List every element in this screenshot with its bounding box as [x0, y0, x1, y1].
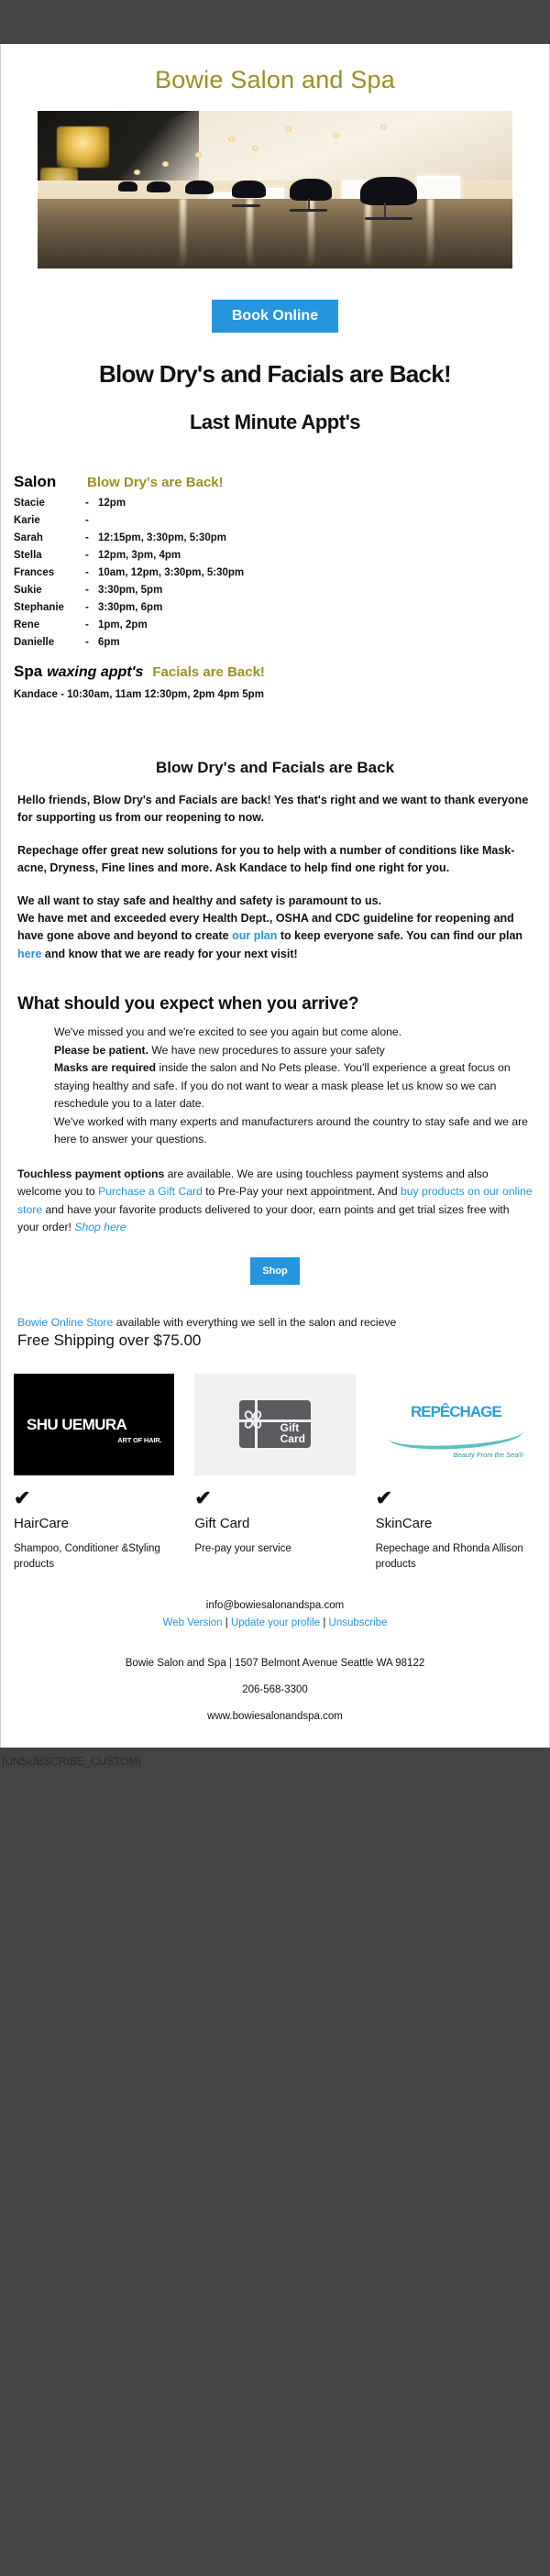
expect-l4-text: We've worked with many experts and manuf…	[54, 1115, 528, 1146]
table-row: Stella - 12pm, 3pm, 4pm	[1, 543, 549, 561]
please-be-patient-bold: Please be patient.	[54, 1044, 148, 1057]
link-separator: |	[320, 1617, 328, 1628]
schedule-section-label: Salon	[14, 473, 87, 491]
touchless-b: to Pre-Pay your next appointment. And	[203, 1185, 401, 1198]
floor-reflection	[427, 199, 434, 269]
row-dash: -	[85, 585, 98, 596]
spa-sublabel: waxing appt's	[47, 664, 143, 681]
salon-chair	[360, 177, 417, 205]
salon-chair	[185, 181, 214, 194]
stylist-times: 3:30pm, 6pm	[98, 602, 549, 613]
link-separator: |	[223, 1617, 231, 1628]
expect-title: What should you expect when you arrive?	[17, 994, 533, 1014]
shop-button-row: Shop	[1, 1237, 549, 1285]
check-icon: ✔	[194, 1475, 355, 1508]
stylist-times: 12pm	[98, 498, 549, 509]
expect-indent-block: We've missed you and we're excited to se…	[17, 1024, 533, 1149]
repechage-tagline: Beauty From the Sea®	[454, 1451, 523, 1459]
table-row: Kandace - 10:30am, 11am 12:30pm, 2pm 4pm…	[1, 681, 549, 700]
row-dash: -	[85, 515, 98, 526]
gift-bow-icon	[245, 1410, 265, 1429]
expect-section: What should you expect when you arrive? …	[1, 963, 549, 1237]
footer-email: info@bowiesalonandspa.com	[17, 1600, 533, 1611]
shu-uemura-tagline: ART OF HAIR.	[117, 1436, 161, 1444]
table-row: Sarah - 12:15pm, 3:30pm, 5:30pm	[1, 526, 549, 543]
stylist-name: Danielle	[14, 637, 85, 648]
stylist-times: 10am, 12pm, 3:30pm, 5:30pm	[98, 567, 549, 578]
shop-here-link[interactable]: Shop here	[74, 1221, 126, 1233]
spa-label: Spa	[14, 663, 42, 681]
touchless-payment-paragraph: Touchless payment options are available.…	[17, 1166, 533, 1237]
footer-links: Web Version | Update your profile | Unsu…	[17, 1617, 533, 1628]
ceiling-light-icon	[133, 170, 141, 175]
product-description: Repechage and Rhonda Allison products	[376, 1541, 536, 1573]
row-dash: -	[85, 498, 98, 509]
headline-primary: Blow Dry's and Facials are Back!	[1, 333, 549, 389]
floor-reflection	[180, 199, 186, 269]
gift-card-icon: Gift Card	[194, 1374, 355, 1475]
floor-reflection	[247, 199, 253, 269]
store-line-rest: available with everything we sell in the…	[113, 1316, 396, 1329]
article-paragraph-1: Hello friends, Blow Dry's and Facials ar…	[17, 792, 533, 828]
stylist-name: Stacie	[14, 498, 85, 509]
stylist-name: Karie	[14, 515, 85, 526]
row-dash: -	[85, 550, 98, 561]
stylist-times	[98, 515, 549, 526]
stylist-name: Frances	[14, 567, 85, 578]
row-dash: -	[85, 637, 98, 648]
product-description: Pre-pay your service	[194, 1541, 355, 1557]
spa-note: Facials are Back!	[152, 664, 265, 680]
stylist-name: Rene	[14, 619, 85, 630]
product-column-haircare: SHU UEMURA ART OF HAIR. ✔ HairCare Shamp…	[14, 1374, 174, 1573]
stylist-times: 6pm	[98, 637, 549, 648]
repechage-wave-icon	[388, 1429, 523, 1452]
table-row: Rene - 1pm, 2pm	[1, 613, 549, 630]
chandelier-icon	[57, 126, 109, 168]
product-columns: SHU UEMURA ART OF HAIR. ✔ HairCare Shamp…	[1, 1350, 549, 1573]
shu-uemura-logo: SHU UEMURA ART OF HAIR.	[14, 1374, 174, 1475]
stylist-name: Stella	[14, 550, 85, 561]
table-row: Frances - 10am, 12pm, 3:30pm, 5:30pm	[1, 561, 549, 578]
expect-line-1: We've missed you and we're excited to se…	[54, 1024, 533, 1149]
card-word: Card	[280, 1433, 305, 1444]
top-dark-bar	[0, 0, 550, 44]
salon-chair	[384, 203, 386, 218]
row-dash: -	[85, 532, 98, 543]
schedule-section-note: Blow Dry's are Back!	[87, 475, 224, 490]
hero-image-wrap	[1, 111, 549, 269]
stylist-times: 1pm, 2pm	[98, 619, 549, 630]
row-dash: -	[85, 619, 98, 630]
check-icon: ✔	[376, 1475, 536, 1508]
article-p3-line1: We all want to stay safe and healthy and…	[17, 894, 381, 907]
unsubscribe-link[interactable]: Unsubscribe	[329, 1617, 388, 1628]
article-p3-line4: and know that we are ready for your next…	[41, 948, 297, 960]
salon-chair	[290, 179, 333, 201]
spa-header: Spa waxing appt's Facials are Back!	[1, 648, 549, 681]
ceiling-light-icon	[251, 146, 259, 151]
unsubscribe-custom-token: [UNSUBSCRIBE_CUSTOM]	[0, 1748, 550, 1768]
masks-required-bold: Masks are required	[54, 1061, 156, 1074]
purchase-gift-card-link[interactable]: Purchase a Gift Card	[98, 1185, 203, 1198]
salon-chair	[365, 217, 412, 220]
stylist-name: Sarah	[14, 532, 85, 543]
bowie-online-store-link[interactable]: Bowie Online Store	[17, 1316, 113, 1329]
row-dash: -	[85, 602, 98, 613]
table-row: Stephanie - 3:30pm, 6pm	[1, 596, 549, 613]
salon-chair	[147, 181, 170, 192]
schedule-section: Salon Blow Dry's are Back! Stacie - 12pm…	[1, 434, 549, 700]
article-paragraph-3: We all want to stay safe and healthy and…	[17, 893, 533, 964]
page-title: Bowie Salon and Spa	[1, 44, 549, 111]
table-row: Karie -	[1, 509, 549, 526]
stylist-name: Sukie	[14, 585, 85, 596]
article-title: Blow Dry's and Facials are Back	[17, 759, 533, 777]
gift-card-graphic: Gift Card	[239, 1400, 311, 1448]
web-version-link[interactable]: Web Version	[163, 1617, 223, 1628]
salon-chair	[290, 209, 327, 212]
footer-section: info@bowiesalonandspa.com Web Version | …	[1, 1573, 549, 1748]
touchless-bold: Touchless payment options	[17, 1167, 164, 1180]
article-paragraph-2: Repechage offer great new solutions for …	[17, 842, 533, 878]
shu-uemura-wordmark: SHU UEMURA	[27, 1416, 126, 1434]
shop-button[interactable]: Shop	[250, 1257, 300, 1285]
footer-phone: 206-568-3300	[17, 1684, 533, 1695]
table-row: Sukie - 3:30pm, 5pm	[1, 578, 549, 596]
repechage-logo: REPÊCHAGE Beauty From the Sea®	[376, 1374, 536, 1475]
repechage-wordmark: REPÊCHAGE	[411, 1403, 501, 1421]
store-section: Bowie Online Store available with everyt…	[1, 1285, 549, 1350]
update-profile-link[interactable]: Update your profile	[231, 1617, 320, 1628]
table-row: Danielle - 6pm	[1, 630, 549, 648]
store-line: Bowie Online Store available with everyt…	[17, 1316, 533, 1329]
headline-secondary: Last Minute Appt's	[1, 389, 549, 434]
product-column-giftcard: Gift Card ✔ Gift Card Pre-pay your servi…	[194, 1374, 355, 1573]
stylist-times: 3:30pm, 5pm	[98, 585, 549, 596]
ceiling-light-icon	[227, 137, 236, 142]
check-icon: ✔	[14, 1475, 174, 1508]
email-body-sheet: Bowie Salon and Spa	[0, 44, 550, 1748]
salon-chair	[232, 204, 260, 207]
book-online-row: Book Online	[1, 269, 549, 333]
ceiling-light-icon	[194, 152, 203, 158]
expect-l1-text: We've missed you and we're excited to se…	[54, 1025, 401, 1038]
salon-interior-photo	[38, 111, 512, 269]
row-dash: -	[85, 567, 98, 578]
gift-card-text: Gift Card	[280, 1422, 305, 1444]
stylist-name: Stephanie	[14, 602, 85, 613]
footer-website: www.bowiesalonandspa.com	[17, 1711, 533, 1748]
product-title: Gift Card	[194, 1516, 355, 1531]
article-p3-line3: to keep everyone safe. You can find our …	[277, 929, 522, 942]
table-row: Stacie - 12pm	[1, 491, 549, 509]
product-column-skincare: REPÊCHAGE Beauty From the Sea® ✔ SkinCar…	[376, 1374, 536, 1573]
ceiling-light-icon	[161, 161, 170, 167]
product-title: HairCare	[14, 1516, 174, 1531]
book-online-button[interactable]: Book Online	[212, 300, 338, 333]
schedule-header: Salon Blow Dry's are Back!	[1, 473, 549, 491]
product-title: SkinCare	[376, 1516, 536, 1531]
article-section: Blow Dry's and Facials are Back Hello fr…	[1, 700, 549, 963]
expect-l2-text: We have new procedures to assure your sa…	[148, 1044, 385, 1057]
hero-floor	[38, 199, 512, 269]
here-link[interactable]: here	[17, 948, 41, 960]
stylist-times: 12:15pm, 3:30pm, 5:30pm	[98, 532, 549, 543]
salon-chair	[232, 181, 265, 198]
email-page: Bowie Salon and Spa	[0, 0, 550, 2576]
product-description: Shampoo, Conditioner &Styling products	[14, 1541, 174, 1573]
stylist-times: 12pm, 3pm, 4pm	[98, 550, 549, 561]
free-shipping-text: Free Shipping over $75.00	[17, 1332, 533, 1350]
floor-reflection	[365, 199, 371, 269]
our-plan-link[interactable]: our plan	[232, 929, 277, 942]
footer-address: Bowie Salon and Spa | 1507 Belmont Avenu…	[17, 1658, 533, 1669]
salon-chair	[118, 181, 137, 191]
